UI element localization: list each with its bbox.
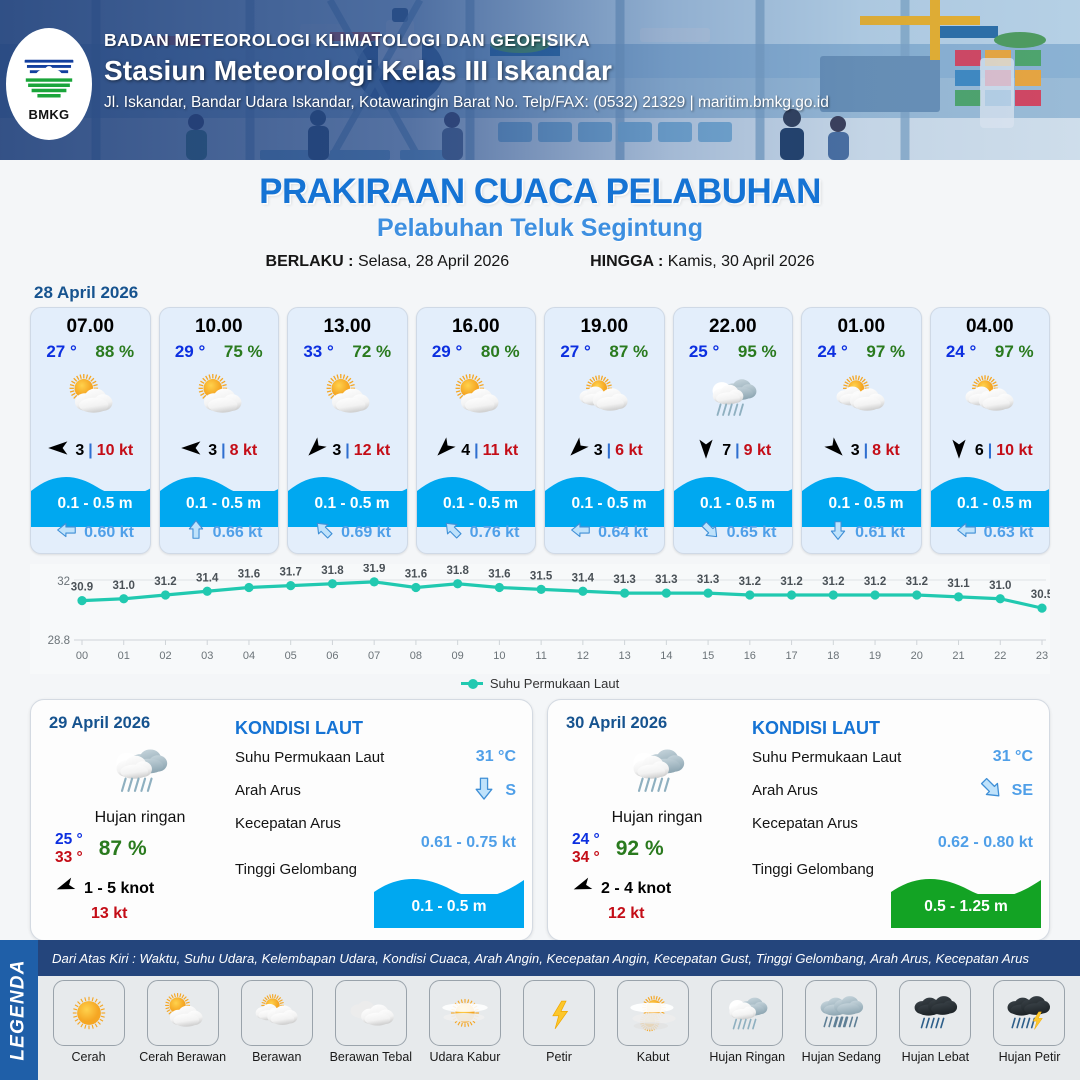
card-wind-direction: 4: [461, 442, 470, 460]
daily-date: 30 April 2026: [566, 714, 748, 733]
legend-item: Udara Kabur: [420, 980, 509, 1064]
svg-text:31.6: 31.6: [488, 569, 510, 581]
svg-text:22: 22: [994, 650, 1006, 662]
daily-humidity: 92 %: [616, 837, 664, 861]
wind-direction-arrow-icon: [823, 436, 847, 465]
wind-separator: |: [221, 442, 225, 460]
card-time: 04.00: [931, 316, 1050, 338]
hujan-ringan-icon: [674, 364, 793, 430]
current-speed-label: Kecepatan Arus: [752, 815, 858, 832]
svg-text:20: 20: [911, 650, 923, 662]
card-wind-direction: 3: [594, 442, 603, 460]
valid-from-label: BERLAKU :: [266, 253, 354, 270]
card-humidity: 97 %: [866, 342, 905, 362]
card-time: 22.00: [674, 316, 793, 338]
legend-item-label: Hujan Ringan: [709, 1050, 785, 1064]
udara-kabur-icon: [429, 980, 501, 1046]
legend-item: Berawan Tebal: [326, 980, 415, 1064]
card-wave-zone: 0.1 - 0.5 m 0.63 kt: [931, 469, 1050, 553]
svg-text:18: 18: [827, 650, 839, 662]
svg-text:13: 13: [618, 650, 630, 662]
svg-text:31.0: 31.0: [113, 580, 135, 592]
svg-text:31.8: 31.8: [446, 565, 469, 577]
svg-text:01: 01: [118, 650, 130, 662]
svg-text:31.2: 31.2: [154, 576, 176, 588]
svg-text:31.3: 31.3: [655, 574, 677, 586]
svg-text:31.9: 31.9: [363, 564, 385, 575]
card-current-speed: 0.69 kt: [341, 524, 391, 542]
wind-direction-arrow-icon: [304, 436, 328, 465]
forecast-card[interactable]: 04.00 24 ° 97 %: [930, 307, 1051, 554]
wind-direction-arrow-icon: [47, 436, 71, 465]
current-direction-label: Arah Arus: [752, 782, 818, 799]
daily-temp-max: 33 °: [55, 849, 83, 867]
card-time: 01.00: [802, 316, 921, 338]
card-wave-height: 0.1 - 0.5 m: [417, 495, 537, 513]
card-temperature: 25 °: [689, 342, 719, 362]
card-wave-zone: 0.1 - 0.5 m 0.61 kt: [802, 469, 921, 553]
wave-height-label: Tinggi Gelombang: [752, 861, 874, 878]
card-wind-speed: 11 kt: [483, 442, 519, 460]
forecast-card[interactable]: 16.00 29 ° 80 % 4 |: [416, 307, 537, 554]
berawan-icon: [241, 980, 313, 1046]
card-time: 16.00: [417, 316, 536, 338]
forecast-card[interactable]: 10.00 29 ° 75 % 3 |: [159, 307, 280, 554]
kabut-icon: [617, 980, 689, 1046]
cerah-berawan-icon: [31, 364, 150, 430]
sst-chart-canvas: 3228.80001020304050607080910111213141516…: [30, 564, 1050, 674]
svg-text:08: 08: [410, 650, 422, 662]
daily-forecast-panel[interactable]: 29 April 2026 Hujan ringan: [30, 699, 533, 941]
card-temperature: 29 °: [432, 342, 462, 362]
legend-item-label: Hujan Lebat: [902, 1050, 969, 1064]
card-current-speed: 0.60 kt: [84, 524, 134, 542]
card-humidity: 72 %: [352, 342, 391, 362]
wind-direction-arrow-icon: [55, 875, 77, 902]
card-temperature: 29 °: [175, 342, 205, 362]
legend-item-label: Petir: [546, 1050, 572, 1064]
sst-value: 31 °C: [993, 748, 1033, 766]
legend-item-label: Cerah Berawan: [139, 1050, 226, 1064]
card-wave-height: 0.1 - 0.5 m: [931, 495, 1051, 513]
legend-side-label: LEGENDA: [8, 959, 30, 1060]
card-wind-speed: 8 kt: [230, 442, 258, 460]
forecast-card[interactable]: 19.00 27 ° 87 %: [544, 307, 665, 554]
current-direction-arrow-icon: [699, 519, 721, 546]
hujan-petir-icon: [993, 980, 1065, 1046]
page-title: PRAKIRAAN CUACA PELABUHAN: [0, 172, 1080, 212]
svg-text:30.9: 30.9: [71, 582, 93, 594]
card-wind-direction: 6: [975, 442, 984, 460]
current-direction-arrow-icon: [570, 519, 592, 546]
berawan-icon: [545, 364, 664, 430]
current-direction-value: SE: [1012, 782, 1033, 800]
card-wave-height: 0.1 - 0.5 m: [288, 495, 408, 513]
hujan-lebat-icon: [899, 980, 971, 1046]
wind-separator: |: [474, 442, 478, 460]
daily-gust: 12 kt: [566, 905, 748, 923]
daily-temp-min: 25 °: [55, 831, 83, 849]
legend-item: Hujan Petir: [985, 980, 1074, 1064]
valid-until-label: HINGGA :: [590, 253, 663, 270]
svg-text:23: 23: [1036, 650, 1048, 662]
svg-text:14: 14: [660, 650, 672, 662]
svg-text:17: 17: [785, 650, 797, 662]
legend-item: Hujan Lebat: [891, 980, 980, 1064]
wind-direction-arrow-icon: [694, 436, 718, 465]
card-wind-speed: 6 kt: [615, 442, 643, 460]
current-direction-arrow-icon: [56, 519, 78, 546]
legend-item-list: Cerah Cerah Berawan: [38, 980, 1080, 1064]
valid-until-value: Kamis, 30 April 2026: [668, 253, 815, 270]
legend-item-label: Kabut: [637, 1050, 670, 1064]
sea-condition-title: KONDISI LAUT: [752, 718, 1033, 739]
current-direction-arrow-icon: [827, 519, 849, 546]
card-wind-direction: 3: [332, 442, 341, 460]
berawan-icon: [802, 364, 921, 430]
svg-text:30.5: 30.5: [1031, 589, 1050, 601]
card-wave-height: 0.1 - 0.5 m: [674, 495, 794, 513]
berawan-tebal-icon: [335, 980, 407, 1046]
svg-text:15: 15: [702, 650, 714, 662]
card-humidity: 75 %: [224, 342, 263, 362]
svg-text:31.2: 31.2: [864, 576, 886, 588]
daily-condition: Hujan ringan: [566, 809, 748, 827]
svg-text:31.6: 31.6: [405, 569, 427, 581]
card-current-speed: 0.63 kt: [984, 524, 1034, 542]
svg-text:31.0: 31.0: [989, 580, 1011, 592]
card-wind-direction: 3: [208, 442, 217, 460]
legend-item: Hujan Sedang: [797, 980, 886, 1064]
card-time: 13.00: [288, 316, 407, 338]
berawan-icon: [931, 364, 1050, 430]
svg-text:00: 00: [76, 650, 88, 662]
legend-side-bar: LEGENDA: [0, 940, 38, 1080]
svg-text:12: 12: [577, 650, 589, 662]
cerah-berawan-icon: [147, 980, 219, 1046]
current-direction-arrow-icon: [956, 519, 978, 546]
current-speed-label: Kecepatan Arus: [235, 815, 341, 832]
wind-direction-arrow-icon: [947, 436, 971, 465]
wind-separator: |: [88, 442, 92, 460]
hujan-sedang-icon: [805, 980, 877, 1046]
card-wave-height: 0.1 - 0.5 m: [160, 495, 280, 513]
svg-text:31.2: 31.2: [906, 576, 928, 588]
current-speed-value: 0.61 - 0.75 kt: [235, 834, 516, 852]
current-direction-label: Arah Arus: [235, 782, 301, 799]
card-wind-speed: 9 kt: [744, 442, 772, 460]
svg-text:06: 06: [326, 650, 338, 662]
svg-text:31.4: 31.4: [196, 572, 219, 584]
sst-label: Suhu Permukaan Laut: [752, 749, 901, 766]
sea-condition-title: KONDISI LAUT: [235, 718, 516, 739]
svg-text:31.3: 31.3: [697, 574, 719, 586]
current-direction-arrow-icon: [442, 519, 464, 546]
card-humidity: 80 %: [481, 342, 520, 362]
svg-text:31.3: 31.3: [613, 574, 635, 586]
legend-item-label: Cerah: [72, 1050, 106, 1064]
card-current-speed: 0.64 kt: [598, 524, 648, 542]
card-wind-direction: 7: [722, 442, 731, 460]
card-wind-speed: 8 kt: [872, 442, 900, 460]
daily-wind-range: 1 - 5 knot: [84, 880, 154, 898]
svg-text:03: 03: [201, 650, 213, 662]
title-block: PRAKIRAAN CUACA PELABUHAN Pelabuhan Telu…: [0, 160, 1080, 271]
card-wind-speed: 10 kt: [996, 442, 1032, 460]
daily-wave-height: 0.5 - 1.25 m: [891, 898, 1041, 916]
current-direction-arrow-icon: [185, 519, 207, 546]
current-direction-arrow-icon: [978, 775, 1004, 806]
svg-text:07: 07: [368, 650, 380, 662]
svg-text:31.2: 31.2: [822, 576, 844, 588]
svg-text:04: 04: [243, 650, 255, 662]
petir-icon: [523, 980, 595, 1046]
station-address: Jl. Iskandar, Bandar Udara Iskandar, Kot…: [104, 94, 829, 112]
svg-text:31.1: 31.1: [947, 578, 970, 590]
wind-separator: |: [988, 442, 992, 460]
hujan-ringan-icon: [566, 735, 748, 805]
card-wave-zone: 0.1 - 0.5 m 0.76 kt: [417, 469, 536, 553]
card-temperature: 24 °: [946, 342, 976, 362]
svg-text:21: 21: [952, 650, 964, 662]
legend-note: Dari Atas Kiri : Waktu, Suhu Udara, Kele…: [38, 940, 1080, 976]
legend-item-label: Udara Kabur: [429, 1050, 500, 1064]
card-wind-direction: 3: [851, 442, 860, 460]
daily-wave-height: 0.1 - 0.5 m: [374, 898, 524, 916]
svg-text:31.7: 31.7: [280, 567, 302, 579]
valid-from-value: Selasa, 28 April 2026: [358, 253, 509, 270]
legend-item: Kabut: [609, 980, 698, 1064]
svg-text:31.5: 31.5: [530, 570, 553, 582]
current-direction-arrow-icon: [471, 775, 497, 806]
daily-wave-graphic: 0.5 - 1.25 m: [891, 872, 1041, 928]
svg-text:05: 05: [285, 650, 297, 662]
wind-separator: |: [864, 442, 868, 460]
card-time: 10.00: [160, 316, 279, 338]
hujan-ringan-icon: [49, 735, 231, 805]
wave-height-label: Tinggi Gelombang: [235, 861, 357, 878]
daily-humidity: 87 %: [99, 837, 147, 861]
cerah-berawan-icon: [288, 364, 407, 430]
page-header: BMKG BADAN METEOROLOGI KLIMATOLOGI DAN G…: [0, 0, 1080, 160]
svg-text:31.2: 31.2: [780, 576, 802, 588]
card-current-speed: 0.66 kt: [213, 524, 263, 542]
forecast-date-label: 28 April 2026: [34, 283, 1080, 303]
bmkg-logo-mark: [20, 47, 78, 105]
validity-row: BERLAKU : Selasa, 28 April 2026 HINGGA :…: [0, 253, 1080, 271]
chart-legend-marker: [461, 682, 483, 685]
agency-name: BADAN METEOROLOGI KLIMATOLOGI DAN GEOFIS…: [104, 30, 829, 51]
svg-text:02: 02: [159, 650, 171, 662]
legend-item: Cerah Berawan: [138, 980, 227, 1064]
svg-text:11: 11: [535, 650, 546, 662]
svg-text:32: 32: [57, 576, 70, 588]
svg-text:16: 16: [744, 650, 756, 662]
daily-date: 29 April 2026: [49, 714, 231, 733]
svg-text:28.8: 28.8: [48, 635, 70, 647]
cerah-berawan-icon: [160, 364, 279, 430]
card-wind-speed: 12 kt: [354, 442, 390, 460]
svg-text:31.2: 31.2: [739, 576, 761, 588]
forecast-card[interactable]: 07.00 27 ° 88 % 3 |: [30, 307, 151, 554]
legend-item-label: Berawan Tebal: [330, 1050, 412, 1064]
card-temperature: 33 °: [303, 342, 333, 362]
cerah-berawan-icon: [417, 364, 536, 430]
hujan-ringan-icon: [711, 980, 783, 1046]
card-time: 07.00: [31, 316, 150, 338]
daily-wave-graphic: 0.1 - 0.5 m: [374, 872, 524, 928]
sst-value: 31 °C: [476, 748, 516, 766]
card-humidity: 97 %: [995, 342, 1034, 362]
card-temperature: 27 °: [560, 342, 590, 362]
legend-item: Berawan: [232, 980, 321, 1064]
svg-text:31.4: 31.4: [572, 572, 595, 584]
card-wind-speed: 10 kt: [97, 442, 133, 460]
station-name: Stasiun Meteorologi Kelas III Iskandar: [104, 55, 829, 87]
card-wave-height: 0.1 - 0.5 m: [31, 495, 151, 513]
wind-direction-arrow-icon: [572, 875, 594, 902]
current-speed-value: 0.62 - 0.80 kt: [752, 834, 1033, 852]
card-wave-zone: 0.1 - 0.5 m 0.60 kt: [31, 469, 150, 553]
current-direction-value: S: [505, 782, 516, 800]
legend-item-label: Hujan Petir: [999, 1050, 1061, 1064]
card-current-speed: 0.76 kt: [470, 524, 520, 542]
forecast-card[interactable]: 22.00 25 ° 95 %: [673, 307, 794, 554]
daily-temp-max: 34 °: [572, 849, 600, 867]
legend-item-label: Hujan Sedang: [802, 1050, 881, 1064]
card-temperature: 27 °: [46, 342, 76, 362]
svg-text:31.8: 31.8: [321, 565, 344, 577]
card-wave-zone: 0.1 - 0.5 m 0.66 kt: [160, 469, 279, 553]
wind-direction-arrow-icon: [180, 436, 204, 465]
chart-legend: Suhu Permukaan Laut: [0, 676, 1080, 691]
card-wind-direction: 3: [75, 442, 84, 460]
wind-separator: |: [735, 442, 739, 460]
sst-chart: 3228.80001020304050607080910111213141516…: [30, 564, 1050, 674]
legend-item-label: Berawan: [252, 1050, 301, 1064]
current-direction-arrow-icon: [313, 519, 335, 546]
daily-temp-min: 24 °: [572, 831, 600, 849]
svg-text:09: 09: [452, 650, 464, 662]
sst-label: Suhu Permukaan Laut: [235, 749, 384, 766]
svg-text:10: 10: [493, 650, 505, 662]
card-temperature: 24 °: [817, 342, 847, 362]
legend-item: Hujan Ringan: [703, 980, 792, 1064]
card-current-speed: 0.65 kt: [727, 524, 777, 542]
svg-text:31.6: 31.6: [238, 569, 260, 581]
cerah-icon: [53, 980, 125, 1046]
wind-separator: |: [345, 442, 349, 460]
svg-text:19: 19: [869, 650, 881, 662]
wind-direction-arrow-icon: [433, 436, 457, 465]
daily-wind-range: 2 - 4 knot: [601, 880, 671, 898]
bmkg-logo: BMKG: [6, 28, 92, 140]
card-wave-zone: 0.1 - 0.5 m 0.64 kt: [545, 469, 664, 553]
card-wave-zone: 0.1 - 0.5 m 0.65 kt: [674, 469, 793, 553]
daily-condition: Hujan ringan: [49, 809, 231, 827]
legend-item: Cerah: [44, 980, 133, 1064]
legend-section: LEGENDA Dari Atas Kiri : Waktu, Suhu Uda…: [0, 940, 1080, 1080]
daily-gust: 13 kt: [49, 905, 231, 923]
card-wave-zone: 0.1 - 0.5 m 0.69 kt: [288, 469, 407, 553]
forecast-card[interactable]: 13.00 33 ° 72 % 3 |: [287, 307, 408, 554]
card-wave-height: 0.1 - 0.5 m: [545, 495, 665, 513]
daily-forecast-panel[interactable]: 30 April 2026 Hujan ringan: [547, 699, 1050, 941]
wind-direction-arrow-icon: [566, 436, 590, 465]
wind-separator: |: [607, 442, 611, 460]
forecast-card[interactable]: 01.00 24 ° 97 %: [801, 307, 922, 554]
legend-item: Petir: [514, 980, 603, 1064]
card-current-speed: 0.61 kt: [855, 524, 905, 542]
card-humidity: 95 %: [738, 342, 777, 362]
card-humidity: 87 %: [609, 342, 648, 362]
card-wave-height: 0.1 - 0.5 m: [802, 495, 922, 513]
bmkg-logo-text: BMKG: [29, 107, 70, 122]
chart-legend-label: Suhu Permukaan Laut: [490, 676, 619, 691]
card-time: 19.00: [545, 316, 664, 338]
daily-forecast-list: 29 April 2026 Hujan ringan: [0, 691, 1080, 941]
forecast-card-list: 07.00 27 ° 88 % 3 |: [0, 307, 1080, 554]
card-humidity: 88 %: [95, 342, 134, 362]
page-subtitle: Pelabuhan Teluk Segintung: [0, 214, 1080, 243]
